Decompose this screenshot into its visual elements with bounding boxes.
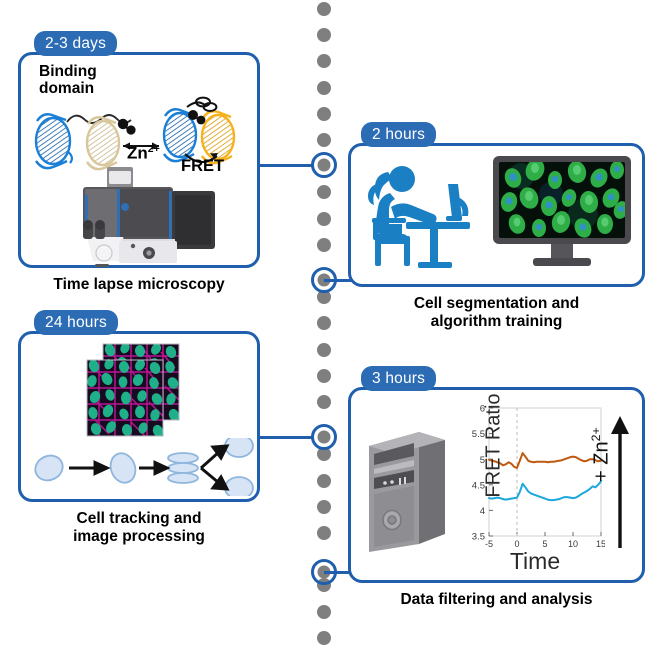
acceptor-protein-bound — [202, 111, 234, 163]
node-cell-tracking[interactable] — [311, 424, 337, 450]
zinc-label: Zn2+ — [127, 143, 160, 164]
timeline-dot — [317, 238, 331, 252]
donor-protein-open — [36, 114, 72, 168]
timeline-dot — [317, 28, 331, 42]
lineage-cell-3b — [168, 463, 198, 473]
panel-cell-segmentation — [348, 143, 645, 287]
stacked-micrographs — [75, 342, 199, 438]
timeline-dot — [317, 631, 331, 645]
timeline-dot — [317, 316, 331, 330]
timeline-node-core — [318, 431, 331, 444]
daughter-cell-1 — [225, 438, 253, 457]
timeline-dot — [317, 185, 331, 199]
badge-time-lapse: 2-3 days — [34, 31, 117, 56]
zinc-superscript: 2+ — [148, 143, 160, 155]
caption-cell-tracking: Cell tracking and image processing — [18, 510, 260, 546]
y-tick-label: 3.5 — [472, 532, 485, 543]
fret-ratio-chart: FRET Ratio 3.544.555.56-5051015 Time — [455, 398, 605, 576]
timeline-dot — [317, 54, 331, 68]
badge-cell-tracking: 24 hours — [34, 310, 118, 335]
chart-xlabel: Time — [483, 548, 587, 575]
monitor-with-cells-icon — [491, 154, 633, 272]
timeline-dot — [317, 133, 331, 147]
daughter-cell-2 — [225, 477, 253, 496]
lineage-cell-3a — [168, 453, 198, 463]
person-at-computer-icon — [360, 162, 478, 270]
timeline-dot — [317, 395, 331, 409]
binding-domain-line1: Binding — [39, 63, 97, 80]
zinc-arrow-element: Zn — [591, 441, 613, 464]
timeline-dot — [317, 343, 331, 357]
plot-frame — [489, 408, 601, 536]
lineage-cell-2 — [107, 450, 140, 486]
zinc-arrow-label: + Zn2+ — [589, 427, 614, 482]
timeline-dot — [317, 500, 331, 514]
workflow-figure: Zinc FRET time-lapse imaging and analysi… — [0, 0, 664, 664]
timeline-node-core — [318, 159, 331, 172]
timeline-dot — [317, 81, 331, 95]
connector-panel3-to-node3 — [258, 436, 314, 439]
timeline-dot — [317, 2, 331, 16]
acceptor-protein-open — [87, 117, 119, 169]
zinc-arrow-superscript: 2+ — [589, 427, 603, 441]
timeline-dot — [317, 107, 331, 121]
caption-cell-segmentation: Cell segmentation and algorithm training — [348, 295, 645, 331]
badge-cell-segmentation: 2 hours — [361, 122, 436, 147]
lineage-cell-1 — [31, 451, 67, 485]
caption-data-filtering: Data filtering and analysis — [348, 591, 645, 609]
caption-line1: Cell segmentation and — [348, 295, 645, 313]
caption-line2: image processing — [18, 528, 260, 546]
binding-domain-blob-open — [118, 119, 136, 135]
panel-cell-tracking — [18, 331, 260, 502]
figure-title: Zinc FRET time-lapse imaging and analysi… — [0, 21, 1, 22]
timeline-dot — [317, 605, 331, 619]
panel-time-lapse-microscopy: Binding domain — [18, 52, 260, 268]
inverted-microscope-icon — [63, 165, 233, 270]
caption-time-lapse-microscopy: Time lapse microscopy — [18, 276, 260, 294]
chart-ylabel: FRET Ratio — [483, 391, 506, 501]
cell-division-lineage — [27, 438, 255, 496]
badge-data-filtering: 3 hours — [361, 366, 436, 391]
caption-line2: algorithm training — [348, 313, 645, 331]
connector-panel1-to-node1 — [258, 164, 314, 167]
node-time-lapse[interactable] — [311, 152, 337, 178]
timeline-dot — [317, 212, 331, 226]
timeline-dot — [317, 369, 331, 383]
timeline-dot — [317, 526, 331, 540]
lineage-cell-3c — [168, 473, 198, 483]
caption-line1: Cell tracking and — [18, 510, 260, 528]
vertical-dotted-timeline — [310, 0, 338, 664]
computer-tower-icon — [361, 416, 457, 556]
x-tick-label: 15 — [596, 539, 605, 549]
panel-data-filtering: FRET Ratio 3.544.555.56-5051015 Time + Z… — [348, 387, 645, 583]
y-tick-label: 4 — [480, 506, 485, 517]
connector-node2-to-panel2 — [324, 279, 352, 282]
timeline-dot — [317, 474, 331, 488]
zinc-arrow-prefix: + — [591, 465, 613, 482]
